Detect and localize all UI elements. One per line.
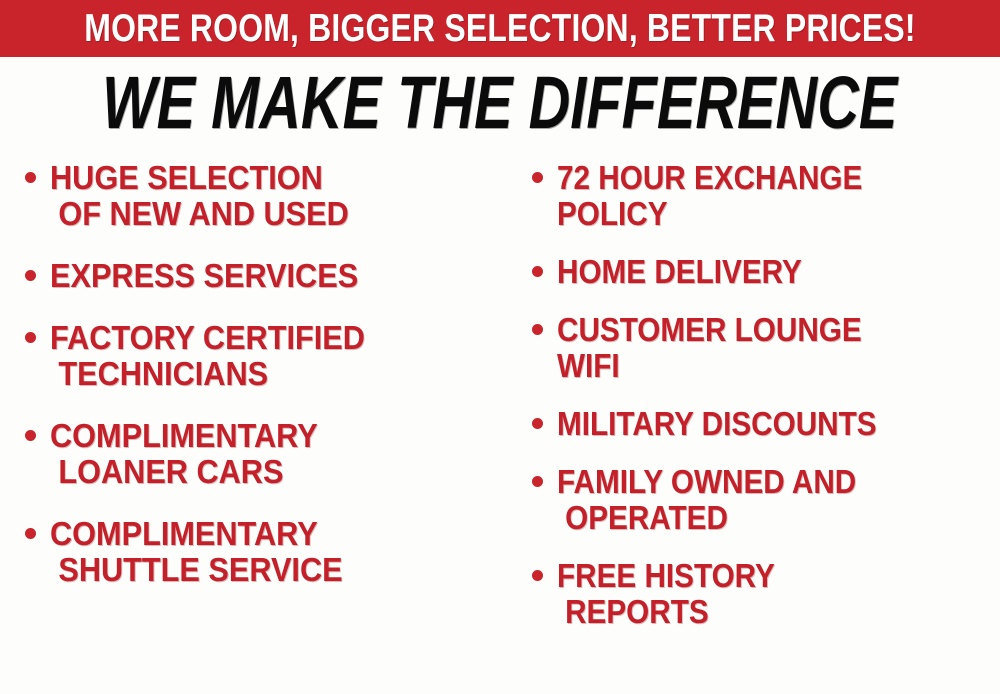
list-item-line: FACTORY CERTIFIED (50, 320, 473, 356)
bullet-dot-icon (25, 430, 36, 441)
list-item-text: EXPRESS SERVICES (50, 258, 505, 294)
list-item: FAMILY OWNED AND OPERATED (527, 464, 1000, 536)
list-item-line: COMPLIMENTARY (50, 516, 473, 552)
list-item-text: COMPLIMENTARY SHUTTLE SERVICE (50, 516, 505, 588)
list-item-line: COMPLIMENTARY (50, 418, 473, 454)
list-item: FACTORY CERTIFIED TECHNICIANS (20, 320, 505, 392)
top-banner: MORE ROOM, BIGGER SELECTION, BETTER PRIC… (0, 0, 1000, 57)
bullet-dot-icon (532, 324, 543, 335)
list-item-text: 72 HOUR EXCHANGE POLICY (557, 160, 1000, 232)
list-item-text: FACTORY CERTIFIED TECHNICIANS (50, 320, 505, 392)
bullet-dot-icon (532, 476, 543, 487)
list-item-line: FAMILY OWNED AND (557, 464, 956, 500)
list-item-line: MILITARY DISCOUNTS (557, 406, 956, 442)
list-item-line: REPORTS (557, 594, 956, 630)
list-item-line: EXPRESS SERVICES (50, 258, 473, 294)
list-item-text: COMPLIMENTARY LOANER CARS (50, 418, 505, 490)
bullet-dot-icon (25, 270, 36, 281)
list-item-text: HOME DELIVERY (557, 254, 1000, 290)
list-item-line: POLICY (557, 196, 956, 232)
bullet-dot-icon (532, 172, 543, 183)
bullet-dot-icon (532, 266, 543, 277)
list-item-text: FREE HISTORY REPORTS (557, 558, 1000, 630)
list-item: EXPRESS SERVICES (20, 258, 505, 294)
benefits-column-left: HUGE SELECTION OF NEW AND USED EXPRESS S… (0, 160, 505, 694)
page-title: WE MAKE THE DIFFERENCE (102, 65, 897, 141)
list-item: 72 HOUR EXCHANGE POLICY (527, 160, 1000, 232)
list-item: FREE HISTORY REPORTS (527, 558, 1000, 630)
bullet-dot-icon (25, 528, 36, 539)
list-item-line: WIFI (557, 348, 956, 384)
list-item-line: LOANER CARS (50, 454, 473, 490)
list-item-text: HUGE SELECTION OF NEW AND USED (50, 160, 505, 232)
list-item-text: CUSTOMER LOUNGE WIFI (557, 312, 1000, 384)
bullet-dot-icon (25, 332, 36, 343)
promo-poster: MORE ROOM, BIGGER SELECTION, BETTER PRIC… (0, 0, 1000, 694)
list-item: CUSTOMER LOUNGE WIFI (527, 312, 1000, 384)
list-item-line: OF NEW AND USED (50, 196, 473, 232)
list-item-line: 72 HOUR EXCHANGE (557, 160, 956, 196)
list-item-line: HUGE SELECTION (50, 160, 473, 196)
bullet-dot-icon (532, 418, 543, 429)
list-item-line: HOME DELIVERY (557, 254, 956, 290)
list-item-text: FAMILY OWNED AND OPERATED (557, 464, 1000, 536)
list-item-line: FREE HISTORY (557, 558, 956, 594)
benefits-column-right: 72 HOUR EXCHANGE POLICY HOME DELIVERY CU… (505, 160, 1000, 694)
banner-headline-text: MORE ROOM, BIGGER SELECTION, BETTER PRIC… (84, 9, 915, 49)
bullet-dot-icon (532, 570, 543, 581)
list-item-line: SHUTTLE SERVICE (50, 552, 473, 588)
benefits-columns: HUGE SELECTION OF NEW AND USED EXPRESS S… (0, 160, 1000, 694)
list-item: COMPLIMENTARY LOANER CARS (20, 418, 505, 490)
bullet-dot-icon (25, 172, 36, 183)
list-item-line: TECHNICIANS (50, 356, 473, 392)
list-item: COMPLIMENTARY SHUTTLE SERVICE (20, 516, 505, 588)
list-item: MILITARY DISCOUNTS (527, 406, 1000, 442)
list-item-line: OPERATED (557, 500, 956, 536)
list-item-text: MILITARY DISCOUNTS (557, 406, 1000, 442)
list-item: HOME DELIVERY (527, 254, 1000, 290)
headline-container: WE MAKE THE DIFFERENCE (0, 62, 1000, 144)
list-item-line: CUSTOMER LOUNGE (557, 312, 956, 348)
list-item: HUGE SELECTION OF NEW AND USED (20, 160, 505, 232)
